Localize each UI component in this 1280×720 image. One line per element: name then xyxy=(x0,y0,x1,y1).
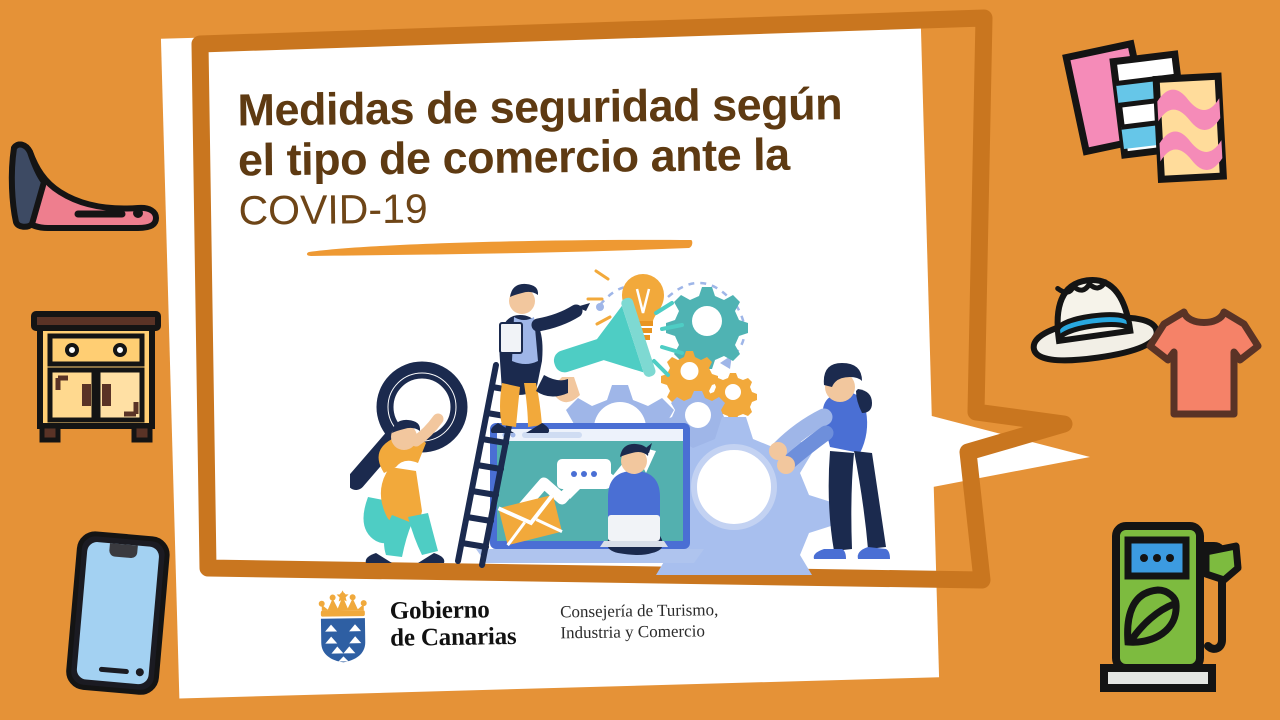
furniture-cabinet-icon xyxy=(20,298,172,448)
underline-brush-stroke xyxy=(305,236,695,258)
business-teamwork-illustration xyxy=(350,265,930,575)
poster-title-block: Medidas de seguridad según el tipo de co… xyxy=(237,78,919,233)
title-line-1: Medidas de seguridad según xyxy=(237,78,917,135)
tshirt-icon xyxy=(1140,298,1268,426)
title-subtitle-covid: COVID-19 xyxy=(238,180,918,233)
canary-islands-coat-of-arms-icon xyxy=(312,588,375,663)
government-name-line-2: de Canarias xyxy=(390,623,517,652)
title-line-2: el tipo de comercio ante la xyxy=(238,128,918,185)
eco-fuel-pump-icon xyxy=(1098,512,1256,702)
poster-canvas: Medidas de seguridad según el tipo de co… xyxy=(0,0,1280,720)
high-heel-shoe-icon xyxy=(4,118,164,238)
government-name: Gobierno de Canarias xyxy=(390,596,517,652)
smartphone-icon xyxy=(52,524,182,700)
department-name: Consejería de Turismo, Industria y Comer… xyxy=(560,599,719,643)
government-name-line-1: Gobierno xyxy=(390,596,517,625)
fabric-swatches-icon xyxy=(1062,32,1232,198)
department-line-2: Industria y Comercio xyxy=(560,620,718,643)
government-logo: Gobierno de Canarias Consejería de Turis… xyxy=(312,583,719,663)
department-line-1: Consejería de Turismo, xyxy=(560,599,718,622)
